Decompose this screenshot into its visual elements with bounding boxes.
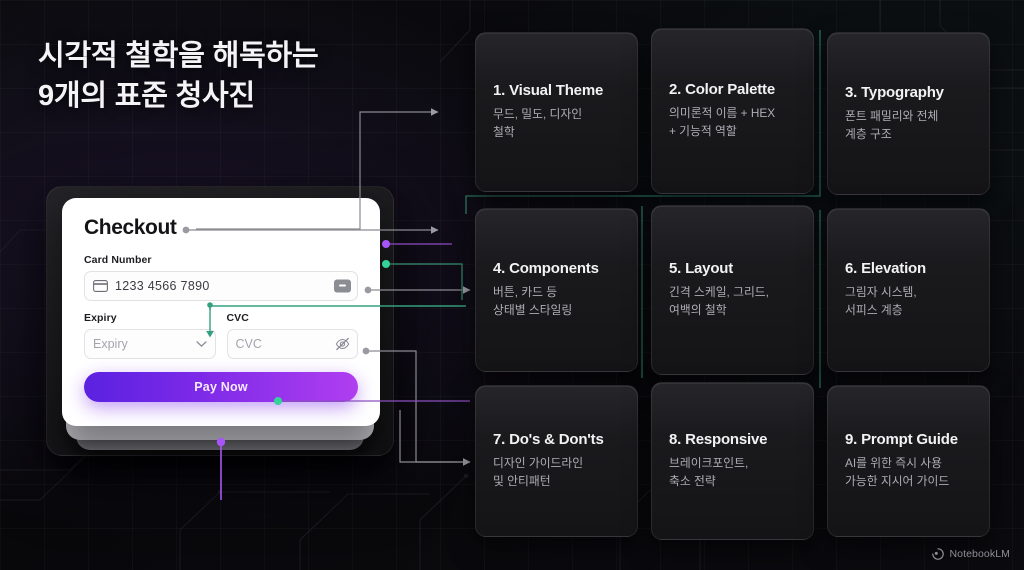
blueprint-title: 1. Visual Theme (493, 82, 620, 99)
blueprint-desc: AI를 위한 즉시 사용 가능한 지시어 가이드 (845, 455, 972, 490)
blueprint-title: 2. Color Palette (669, 81, 796, 98)
expiry-select[interactable]: Expiry (84, 329, 216, 359)
blueprint-card-3[interactable]: 3. Typography 폰트 패밀리와 전체 계층 구조 (827, 32, 990, 195)
blueprint-title: 5. Layout (669, 260, 796, 277)
blueprint-title: 6. Elevation (845, 260, 972, 277)
expiry-label: Expiry (84, 312, 216, 324)
blueprint-desc: 브레이크포인트, 축소 전략 (669, 455, 796, 490)
checkout-card: Checkout Card Number 1233 4566 7890 Expi… (62, 198, 380, 426)
blueprint-title: 3. Typography (845, 84, 972, 101)
blueprint-card-1[interactable]: 1. Visual Theme 무드, 밀도, 디자인 철학 (475, 32, 638, 192)
headline-line-2: 9개의 표준 청사진 (38, 76, 458, 116)
blueprint-desc: 긴격 스케일, 그리드, 여백의 철학 (669, 284, 796, 319)
blueprint-card-9[interactable]: 9. Prompt Guide AI를 위한 즉시 사용 가능한 지시어 가이드 (827, 385, 990, 537)
watermark-label: NotebookLM (949, 548, 1010, 560)
credit-card-icon (93, 280, 108, 292)
cvc-input[interactable]: CVC (227, 329, 359, 359)
eye-off-icon[interactable] (335, 338, 350, 351)
blueprint-card-5[interactable]: 5. Layout 긴격 스케일, 그리드, 여백의 철학 (651, 205, 814, 375)
card-number-value: 1233 4566 7890 (115, 279, 210, 293)
card-number-input[interactable]: 1233 4566 7890 (84, 271, 358, 301)
cvc-label: CVC (227, 312, 359, 324)
chevron-down-icon (196, 341, 207, 348)
blueprint-desc: 의미론적 이름 + HEX + 기능적 역할 (669, 105, 796, 140)
blueprint-card-2[interactable]: 2. Color Palette 의미론적 이름 + HEX + 기능적 역할 (651, 28, 814, 194)
blueprint-desc: 디자인 가이드라인 및 안티패턴 (493, 455, 620, 490)
pay-now-button[interactable]: Pay Now (84, 372, 358, 402)
blueprint-desc: 버튼, 카드 등 상태별 스타일링 (493, 284, 620, 319)
notebooklm-logo-icon (932, 548, 944, 560)
page-title: 시각적 철학을 해독하는 9개의 표준 청사진 (38, 36, 458, 116)
cvc-placeholder: CVC (236, 337, 262, 351)
blueprint-title: 9. Prompt Guide (845, 431, 972, 448)
headline-line-1: 시각적 철학을 해독하는 (38, 40, 319, 72)
expiry-cvc-row: Expiry Expiry CVC CVC (84, 312, 358, 359)
blueprint-card-4[interactable]: 4. Components 버튼, 카드 등 상태별 스타일링 (475, 208, 638, 372)
expiry-placeholder: Expiry (93, 337, 128, 351)
card-number-label: Card Number (84, 254, 358, 266)
blueprint-title: 8. Responsive (669, 431, 796, 448)
blueprint-title: 7. Do's & Don'ts (493, 431, 620, 448)
blueprint-desc: 그림자 시스템, 서피스 계층 (845, 284, 972, 319)
blueprint-card-7[interactable]: 7. Do's & Don'ts 디자인 가이드라인 및 안티패턴 (475, 385, 638, 537)
checkout-title: Checkout (84, 216, 358, 240)
card-chip-icon[interactable] (334, 280, 351, 293)
blueprint-desc: 폰트 패밀리와 전체 계층 구조 (845, 108, 972, 143)
infographic-canvas: 시각적 철학을 해독하는 9개의 표준 청사진 Checkout Card Nu… (0, 0, 1024, 570)
watermark: NotebookLM (932, 548, 1010, 560)
blueprint-card-6[interactable]: 6. Elevation 그림자 시스템, 서피스 계층 (827, 208, 990, 372)
blueprint-desc: 무드, 밀도, 디자인 철학 (493, 106, 620, 141)
blueprint-card-8[interactable]: 8. Responsive 브레이크포인트, 축소 전략 (651, 382, 814, 540)
blueprint-title: 4. Components (493, 260, 620, 277)
